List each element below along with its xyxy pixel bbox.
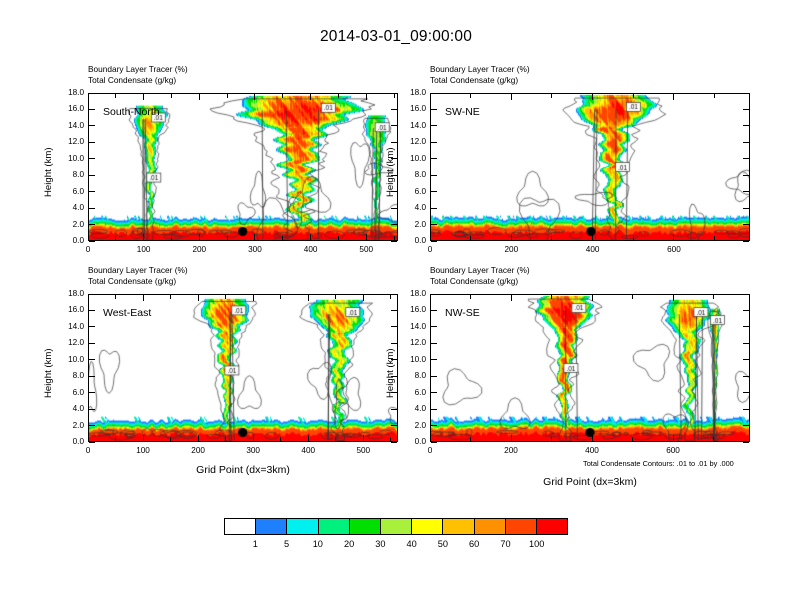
panel-header-condensate: Total Condensate (g/kg) [430,276,530,287]
colorbar-segment-10 [537,519,567,534]
x-tick-top [308,295,309,301]
x-tick-top [713,295,714,299]
x-tick-top [632,295,633,299]
x-tick-top [280,295,281,299]
x-axis-title-left: Grid Point (dx=3km) [88,464,398,476]
x-tick-label: 400 [572,446,612,455]
x-tick [253,435,254,441]
y-tick [89,191,95,192]
panel-header-condensate: Total Condensate (g/kg) [88,276,188,287]
y-tick [431,125,437,126]
panel-header-tracer: Boundary Layer Tracer (%) [88,64,188,75]
colorbar-segment-8 [475,519,506,534]
x-tick-top [88,295,89,301]
x-tick-label: 100 [124,245,164,254]
y-tick-label: 10.0 [398,154,426,163]
y-tick-label: 0.0 [398,236,426,245]
y-tick-label: 16.0 [398,104,426,113]
x-tick [282,236,283,240]
y-tick-label: 8.0 [56,170,84,179]
y-tick [431,241,437,242]
y-tick [431,93,437,94]
x-tick [225,437,226,441]
y-tick [89,208,95,209]
panel-header-condensate: Total Condensate (g/kg) [430,75,530,86]
colorbar-segment-2 [287,519,318,534]
x-tick [280,437,281,441]
y-tick-right [743,392,749,393]
x-tick-top [363,295,364,301]
x-tick [713,437,714,441]
x-tick [632,437,633,441]
y-tick [431,392,437,393]
y-tick [89,359,95,360]
y-tick [431,224,437,225]
x-tick-top [394,94,395,98]
y-tick-right [391,224,397,225]
y-tick [431,294,437,295]
y-tick-right [391,310,397,311]
y-tick-label: 6.0 [56,187,84,196]
y-axis-title: Height (km) [385,348,396,398]
y-tick-right [743,125,749,126]
colorbar-segment-1 [256,519,287,534]
y-tick-label: 16.0 [398,305,426,314]
x-tick [551,437,552,441]
x-tick-top [430,295,431,301]
y-tick-right [743,175,749,176]
x-tick-top [115,295,116,299]
x-tick-top [633,94,634,98]
plot-area-nw-se: NW-SE [430,294,750,442]
panel-header: Boundary Layer Tracer (%)Total Condensat… [88,64,188,86]
y-tick-label: 0.0 [398,437,426,446]
colorbar-segment-7 [443,519,474,534]
y-tick-right [743,93,749,94]
x-tick-label: 200 [179,245,219,254]
x-tick-label: 400 [291,245,331,254]
contour-note: Total Condensate Contours: .01 to .01 by… [583,459,734,468]
y-tick-right [743,376,749,377]
y-tick-label: 4.0 [56,404,84,413]
x-tick [430,435,431,441]
panel-header: Boundary Layer Tracer (%)Total Condensat… [88,265,188,287]
x-tick-top [338,94,339,98]
y-tick-right [743,343,749,344]
x-tick-top [430,94,431,100]
y-tick-right [743,241,749,242]
x-tick [551,236,552,240]
y-tick-label: 12.0 [398,137,426,146]
x-tick-label: 0 [68,446,108,455]
y-tick-label: 14.0 [56,322,84,331]
y-tick-label: 8.0 [398,371,426,380]
x-tick [470,236,471,240]
y-tick [431,442,437,443]
x-tick [88,435,89,441]
x-tick [673,435,674,441]
y-tick [89,224,95,225]
y-tick [431,409,437,410]
x-tick-label: 0 [410,446,450,455]
y-tick [89,109,95,110]
x-tick [115,236,116,240]
x-tick-top [551,295,552,299]
y-tick-right [743,158,749,159]
x-tick [673,234,674,240]
colorbar-segment-3 [319,519,350,534]
y-tick [431,109,437,110]
figure-root: 2014-03-01_09:00:00 Boundary Layer Trace… [0,0,792,612]
x-tick-top [253,295,254,301]
x-tick-top [115,94,116,98]
y-tick-right [743,224,749,225]
x-tick [254,234,255,240]
y-tick [431,343,437,344]
colorbar-segment-4 [350,519,381,534]
x-tick-label: 600 [654,245,694,254]
y-tick [431,376,437,377]
x-tick-label: 200 [491,446,531,455]
y-tick [89,125,95,126]
y-tick [89,409,95,410]
x-tick-label: 0 [68,245,108,254]
y-tick-right [743,326,749,327]
y-tick-label: 4.0 [398,203,426,212]
x-tick-top [673,295,674,301]
y-tick-right [391,142,397,143]
x-tick [338,236,339,240]
y-tick-label: 8.0 [398,170,426,179]
colorbar [224,518,568,535]
y-tick [431,208,437,209]
y-tick-label: 10.0 [56,355,84,364]
y-tick [431,191,437,192]
x-tick-top [366,94,367,100]
y-tick-label: 2.0 [398,220,426,229]
y-axis-title: Height (km) [43,147,54,197]
y-tick-label: 2.0 [398,421,426,430]
x-tick [143,234,144,240]
y-tick-label: 14.0 [398,121,426,130]
y-tick-right [743,109,749,110]
panel-tag-nw-se: NW-SE [445,307,480,319]
y-tick-right [391,241,397,242]
x-tick-top [592,94,593,100]
x-tick-top [171,94,172,98]
panel-header-tracer: Boundary Layer Tracer (%) [88,265,188,276]
y-tick [89,310,95,311]
y-tick-label: 2.0 [56,421,84,430]
y-tick-label: 8.0 [56,371,84,380]
x-tick [430,234,431,240]
x-tick [714,236,715,240]
y-tick-right [743,208,749,209]
y-tick-label: 2.0 [56,220,84,229]
y-tick-label: 0.0 [56,236,84,245]
colorbar-segment-0 [225,519,256,534]
x-tick-label: 600 [653,446,693,455]
y-tick-label: 12.0 [56,338,84,347]
y-tick [431,359,437,360]
y-tick-right [391,125,397,126]
x-tick [199,234,200,240]
x-tick-top [198,295,199,301]
y-tick [89,241,95,242]
y-tick-right [391,343,397,344]
panel-header-condensate: Total Condensate (g/kg) [88,75,188,86]
y-tick-label: 14.0 [398,322,426,331]
y-tick-label: 4.0 [398,404,426,413]
plot-area-south-north: South-North [88,93,398,241]
x-tick [511,435,512,441]
y-tick [89,392,95,393]
y-tick-label: 16.0 [56,305,84,314]
y-tick [89,158,95,159]
x-tick-top [225,295,226,299]
y-tick-right [391,109,397,110]
y-tick-label: 18.0 [398,88,426,97]
x-tick [390,437,391,441]
y-tick-label: 6.0 [398,187,426,196]
x-tick-label: 300 [235,245,275,254]
y-axis-title: Height (km) [385,147,396,197]
x-tick [115,437,116,441]
x-tick-top [551,94,552,98]
x-tick-top [88,94,89,100]
y-tick-label: 10.0 [398,355,426,364]
panel-header: Boundary Layer Tracer (%)Total Condensat… [430,265,530,287]
x-tick-top [227,94,228,98]
x-tick [198,435,199,441]
y-tick-label: 6.0 [56,388,84,397]
y-tick-label: 12.0 [398,338,426,347]
x-tick-label: 200 [491,245,531,254]
x-tick [310,234,311,240]
y-tick-label: 6.0 [398,388,426,397]
x-tick [592,234,593,240]
x-tick-top [390,295,391,299]
panel-tag-sw-ne: SW-NE [445,106,480,118]
panel-header-tracer: Boundary Layer Tracer (%) [430,265,530,276]
x-tick [170,437,171,441]
x-tick [308,435,309,441]
y-tick [89,376,95,377]
x-tick-top [199,94,200,100]
y-tick [431,175,437,176]
y-tick-right [743,409,749,410]
y-tick [89,294,95,295]
x-tick [88,234,89,240]
y-tick-label: 14.0 [56,121,84,130]
y-tick [431,310,437,311]
panel-tag-south-north: South-North [103,106,160,118]
x-tick [633,236,634,240]
y-tick-right [391,208,397,209]
plot-area-sw-ne: SW-NE [430,93,750,241]
panel-header: Boundary Layer Tracer (%)Total Condensat… [430,64,530,86]
x-tick-label: 300 [233,446,273,455]
y-tick-right [743,294,749,295]
x-tick-top [470,295,471,299]
panel-header-tracer: Boundary Layer Tracer (%) [430,64,530,75]
x-axis-title-right: Grid Point (dx=3km) [430,476,750,488]
y-tick [89,425,95,426]
colorbar-segment-5 [381,519,412,534]
y-tick-label: 16.0 [56,104,84,113]
x-tick-top [143,94,144,100]
x-tick-label: 200 [178,446,218,455]
page-title: 2014-03-01_09:00:00 [0,28,792,46]
y-axis-title: Height (km) [43,348,54,398]
y-tick-right [743,142,749,143]
x-tick [335,437,336,441]
x-tick-top [254,94,255,100]
y-tick [89,142,95,143]
x-tick-top [673,94,674,100]
x-tick [171,236,172,240]
x-tick-top [282,94,283,98]
x-tick-top [170,295,171,299]
y-tick-right [391,294,397,295]
y-tick-label: 12.0 [56,137,84,146]
x-tick-top [335,295,336,299]
x-tick-top [714,94,715,98]
x-tick-top [511,94,512,100]
y-tick [89,326,95,327]
x-tick [511,234,512,240]
y-tick [89,175,95,176]
y-tick-right [391,425,397,426]
y-tick-label: 0.0 [56,437,84,446]
y-tick [431,158,437,159]
y-tick-label: 18.0 [56,289,84,298]
y-tick [89,343,95,344]
x-tick-label: 500 [346,245,386,254]
y-tick [89,442,95,443]
y-tick-right [391,409,397,410]
y-tick [431,326,437,327]
colorbar-label-100: 100 [517,539,557,549]
x-tick-label: 500 [343,446,383,455]
x-tick-top [511,295,512,301]
panel-tag-west-east: West-East [103,307,151,319]
y-tick-right [743,310,749,311]
x-tick-label: 100 [123,446,163,455]
x-tick-label: 400 [573,245,613,254]
x-tick-top [470,94,471,98]
y-tick-label: 10.0 [56,154,84,163]
plot-area-west-east: West-East [88,294,398,442]
x-tick [363,435,364,441]
y-tick-label: 4.0 [56,203,84,212]
y-tick-right [391,442,397,443]
colorbar-segment-6 [412,519,443,534]
y-tick-label: 18.0 [56,88,84,97]
x-tick [143,435,144,441]
x-tick-label: 400 [288,446,328,455]
x-tick [394,236,395,240]
y-tick-right [391,326,397,327]
y-tick [431,142,437,143]
y-tick [431,425,437,426]
x-tick [227,236,228,240]
y-tick-right [743,359,749,360]
x-tick [366,234,367,240]
y-tick [89,93,95,94]
x-tick-top [310,94,311,100]
y-tick-label: 18.0 [398,289,426,298]
y-tick-right [743,425,749,426]
y-tick-right [743,191,749,192]
colorbar-segment-9 [506,519,537,534]
x-tick [470,437,471,441]
x-tick-top [143,295,144,301]
y-tick-right [743,442,749,443]
x-tick [592,435,593,441]
x-tick-label: 0 [410,245,450,254]
x-tick-top [592,295,593,301]
